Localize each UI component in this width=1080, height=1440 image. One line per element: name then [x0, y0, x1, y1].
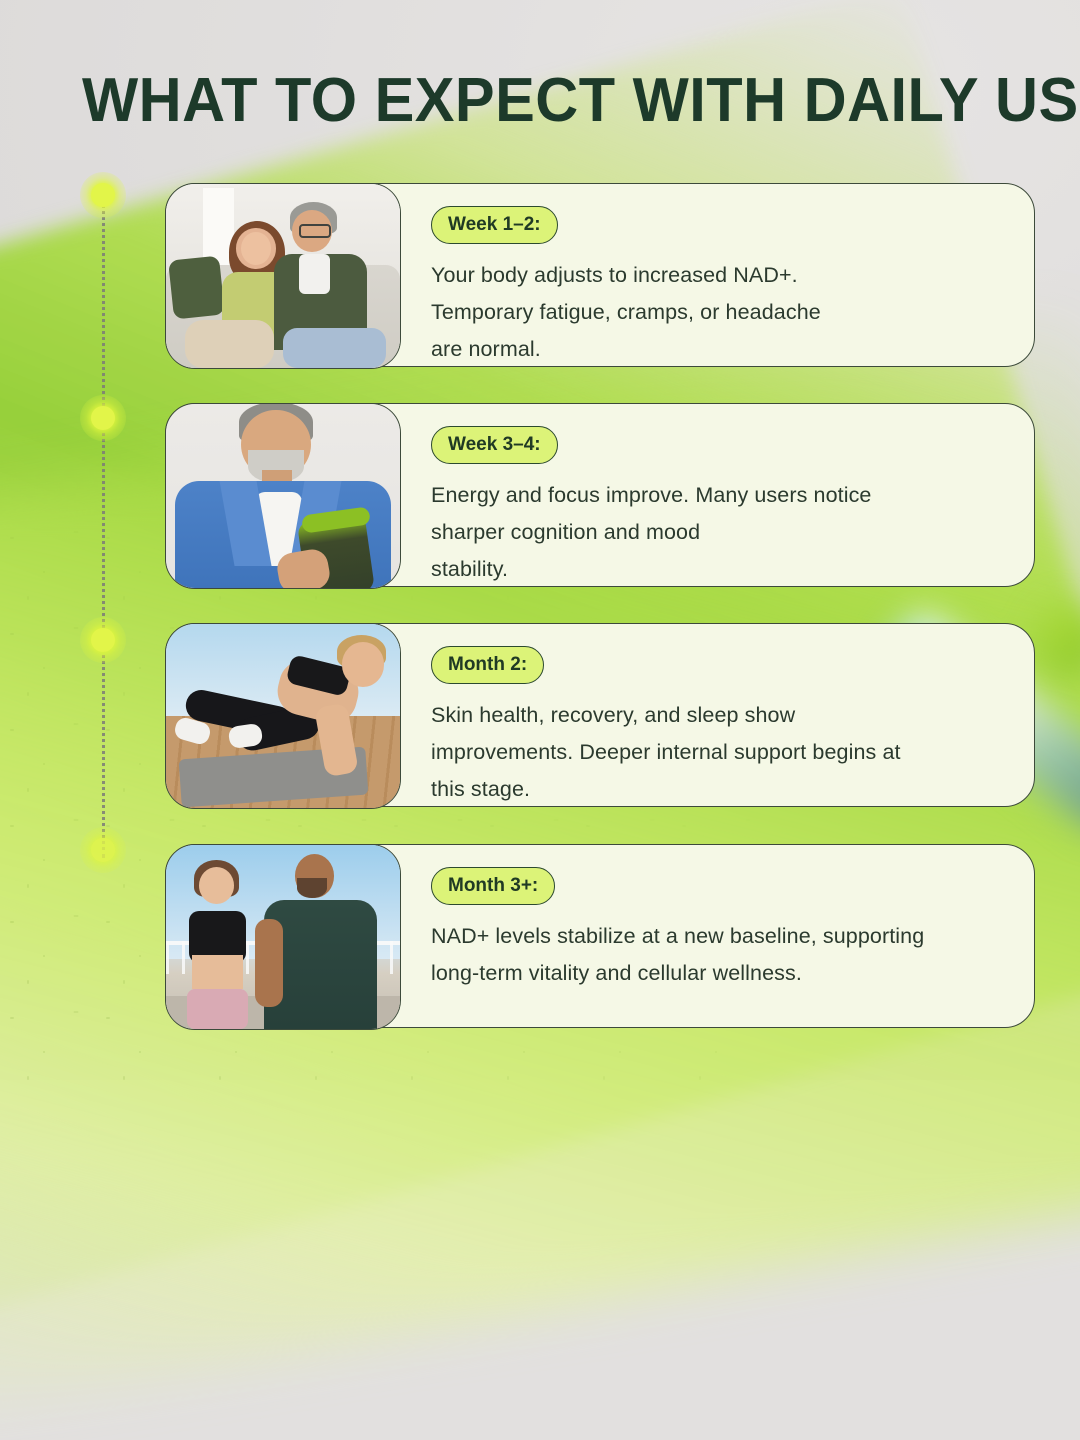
stage-content-1: Week 1–2: Your body adjusts to increased… — [431, 206, 1010, 368]
stage-badge-1: Week 1–2: — [431, 206, 558, 244]
stage-description-4: NAD+ levels stabilize at a new baseline,… — [431, 918, 1010, 992]
stage-badge-2: Week 3–4: — [431, 426, 558, 464]
stage-description-3: Skin health, recovery, and sleep show im… — [431, 697, 1010, 808]
timeline-dot-2 — [80, 395, 126, 441]
timeline-rail — [94, 190, 114, 860]
stage-description-2: Energy and focus improve. Many users not… — [431, 477, 1010, 588]
stage-content-3: Month 2: Skin health, recovery, and slee… — [431, 646, 1010, 808]
stage-card-month-2: Month 2: Skin health, recovery, and slee… — [165, 623, 1035, 807]
stage-content-2: Week 3–4: Energy and focus improve. Many… — [431, 426, 1010, 588]
stage-thumbnail-4 — [165, 844, 401, 1030]
stage-card-week-1-2: Week 1–2: Your body adjusts to increased… — [165, 183, 1035, 367]
stage-content-4: Month 3+: NAD+ levels stabilize at a new… — [431, 867, 1010, 992]
stage-card-week-3-4: Week 3–4: Energy and focus improve. Many… — [165, 403, 1035, 587]
stage-card-month-3-plus: Month 3+: NAD+ levels stabilize at a new… — [165, 844, 1035, 1028]
stage-thumbnail-1 — [165, 183, 401, 369]
stage-badge-3: Month 2: — [431, 646, 544, 684]
stage-description-1: Your body adjusts to increased NAD+. Tem… — [431, 257, 1010, 368]
stage-badge-4: Month 3+: — [431, 867, 555, 905]
timeline-dot-3 — [80, 617, 126, 663]
timeline-dot-4 — [80, 827, 126, 873]
timeline-dot-1 — [80, 172, 126, 218]
timeline-dotted-line — [102, 198, 105, 858]
product-tube-green-cap — [1038, 608, 1080, 672]
stage-thumbnail-2 — [165, 403, 401, 589]
stage-thumbnail-3 — [165, 623, 401, 809]
page-title: WHAT TO EXPECT WITH DAILY USE — [82, 66, 1080, 136]
